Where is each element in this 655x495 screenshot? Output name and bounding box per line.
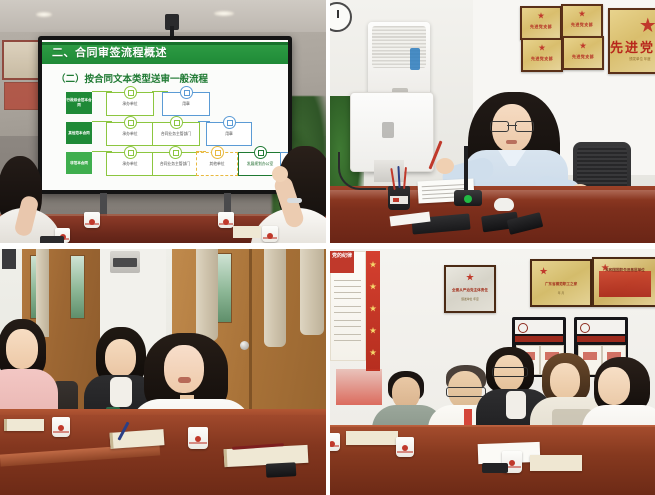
rack-label-bar	[577, 336, 625, 342]
face	[598, 367, 630, 405]
wall-plaque: 先进党支部	[521, 38, 563, 72]
certificate-text: 共和国国防先进基层单位	[594, 268, 655, 273]
plaque-subtext: 颁发单位 年度	[610, 56, 655, 61]
notebook	[530, 455, 582, 471]
plaque-text: 先进党支部	[564, 54, 602, 60]
flow-row-tag: 其他范本合同	[66, 122, 92, 144]
party-emblem-icon	[540, 267, 548, 275]
tea-mug	[262, 226, 278, 242]
rack-header	[515, 320, 563, 334]
certificate-inner-panel	[599, 271, 651, 297]
mug-text	[53, 431, 69, 433]
flow-row-tag: 行政综合范本合同	[66, 92, 92, 114]
flow-row-tag: 非范本合同	[66, 152, 92, 174]
mouse[interactable]	[494, 198, 514, 211]
photo-panel-bottom-right: 党的纪律 全面从严治党主体责任 颁发单位 年度 广东省模范职工之家 年 月	[330, 249, 655, 495]
mobile-phone[interactable]	[482, 463, 508, 473]
tea-mug	[188, 427, 208, 449]
photo-collage: 二、合同审签流程概述 （二）按合同文本类型送审一般流程 行政综合范本合同 承办单…	[0, 0, 655, 495]
window-curtain	[300, 249, 324, 335]
face	[550, 363, 580, 399]
pen-holder-label	[390, 196, 408, 204]
poster-title: 党的纪律	[330, 253, 354, 259]
face	[105, 339, 136, 377]
monitor-logo	[382, 122, 394, 138]
inner-shirt	[110, 377, 132, 407]
plaque-text: 先进党支部	[522, 24, 560, 30]
poster-base-graphic	[336, 369, 382, 405]
window-curtain	[196, 249, 218, 341]
tea-mug	[52, 417, 70, 437]
wall-plaque: 先进党支部	[520, 6, 562, 40]
rack-header	[577, 320, 625, 334]
tea-mug	[330, 433, 340, 451]
wall-certificate: 广东省模范职工之家 年 月	[530, 259, 592, 307]
slide-title: 二、合同审签流程概述	[52, 44, 167, 60]
door-glass-panel	[70, 255, 85, 319]
mug-text	[189, 442, 207, 444]
mug-text	[219, 223, 233, 225]
wall-plaque: 先进党支部	[562, 36, 604, 70]
party-emblem-icon	[538, 12, 545, 19]
wall-frame	[2, 249, 16, 269]
tea-mug	[218, 212, 234, 228]
party-emblem-icon	[539, 44, 546, 51]
notebook	[4, 419, 44, 431]
tea-mug	[84, 212, 100, 228]
camera-mount-arm	[170, 26, 174, 36]
plaque-text: 先进党支部	[523, 56, 561, 62]
certificate-subtext: 颁发单位 年度	[446, 297, 494, 301]
rack-label-bar	[515, 336, 563, 342]
photo-panel-top-right: 先进党支部 先进党支部 先进党支部 先进党支部 先进党支 颁发单位 年度	[330, 0, 655, 243]
ceiling-light-icon	[36, 12, 52, 17]
party-emblem-icon	[466, 273, 474, 281]
slide-subtitle: （二）按合同文本类型送审一般流程	[56, 71, 208, 85]
wall-red-plaque	[4, 82, 40, 110]
tea-mug	[396, 437, 414, 457]
decorative-red-strip	[366, 251, 380, 371]
microphone-stem	[464, 146, 468, 194]
ac-display	[410, 48, 420, 70]
wall-plaque: 先进党支部	[561, 4, 603, 38]
mug-text	[85, 223, 99, 225]
ceiling-light-icon	[214, 11, 234, 16]
certificate-subtext: 年 月	[532, 291, 590, 295]
desk-highlight	[330, 190, 655, 200]
party-emblem-icon	[580, 42, 587, 49]
window-curtain	[264, 249, 286, 347]
photo-panel-top-left: 二、合同审签流程概述 （二）按合同文本类型送审一般流程 行政综合范本合同 承办单…	[0, 0, 326, 243]
flow-step-node	[169, 146, 182, 159]
gooseneck-lamp	[338, 152, 386, 190]
plaque-text: 先进党支部	[563, 22, 601, 28]
poster-title-block: 党的纪律	[330, 251, 354, 273]
flow-step-node	[124, 86, 137, 99]
certificate-text: 全面从严治党主体责任	[446, 288, 494, 293]
flow-step-node	[124, 116, 137, 129]
door-seam	[249, 249, 252, 435]
hand	[272, 166, 288, 182]
party-emblem-icon	[640, 17, 655, 33]
flow-step-node	[124, 146, 137, 159]
mouth	[178, 377, 191, 383]
mug-text	[263, 237, 277, 239]
wristwatch	[287, 198, 302, 203]
wall-certificate: 全面从严治党主体责任 颁发单位 年度	[444, 265, 496, 313]
microphone-power-indicator[interactable]	[464, 195, 472, 203]
mobile-phone[interactable]	[266, 462, 297, 478]
flow-step-node	[180, 86, 193, 99]
mouth	[506, 140, 517, 144]
flow-step-node	[223, 116, 236, 129]
left-hand	[436, 158, 454, 174]
plaque-text: 先进党支	[610, 37, 655, 56]
wall-plaque-large: 先进党支 颁发单位 年度	[608, 8, 655, 74]
face	[6, 329, 38, 369]
wall-certificate: 共和国国防先进基层单位	[592, 257, 655, 307]
mug-text	[397, 451, 413, 453]
photo-panel-bottom-left	[0, 249, 326, 495]
mobile-phone	[40, 236, 64, 243]
face	[164, 345, 204, 393]
ac-control-panel[interactable]	[110, 251, 140, 273]
notebook	[346, 431, 398, 445]
mug-text	[330, 445, 339, 447]
certificate-text: 广东省模范职工之家	[532, 282, 590, 287]
inner-shirt	[506, 391, 526, 419]
eyeglasses-icon	[490, 121, 534, 130]
flow-step-node	[211, 146, 224, 159]
eyeglasses-icon	[492, 367, 528, 377]
party-emblem-icon	[579, 10, 586, 17]
flow-step-node	[170, 116, 183, 129]
pen-holder	[388, 186, 410, 210]
notebook	[233, 226, 261, 238]
